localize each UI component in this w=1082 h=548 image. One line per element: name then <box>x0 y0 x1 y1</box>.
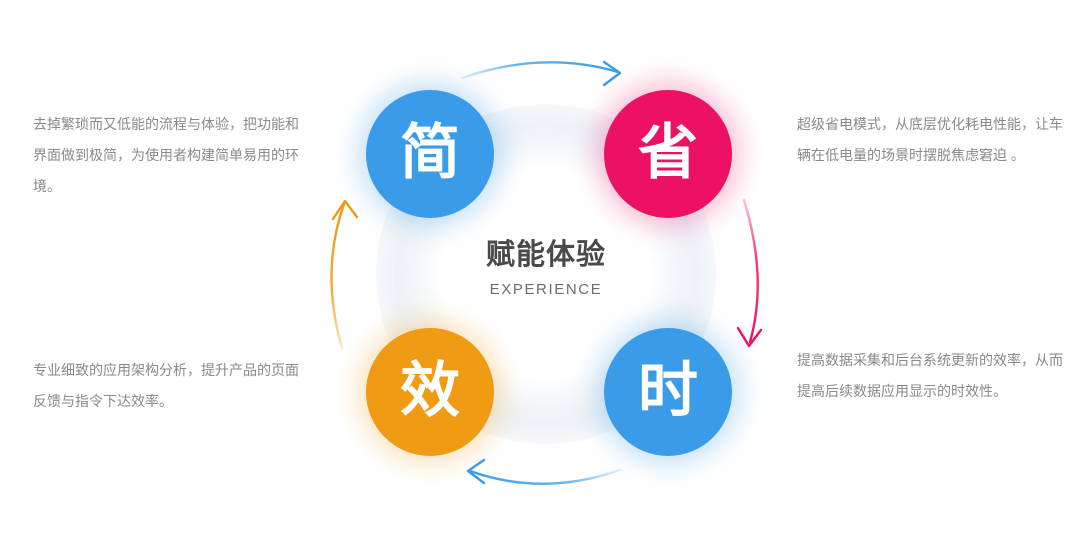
bottom-arrow-icon <box>468 460 620 484</box>
description-xiao: 专业细致的应用架构分析，提升产品的页面反馈与指令下达效率。 <box>33 355 301 417</box>
node-xiao[interactable]: 效 <box>366 328 494 456</box>
node-jian[interactable]: 简 <box>366 90 494 218</box>
description-sheng: 超级省电模式，从底层优化耗电性能，让车辆在低电量的场景时摆脱焦虑窘迫 。 <box>797 109 1065 171</box>
left-arrow-icon <box>331 201 357 348</box>
center-title: 赋能体验 <box>396 240 696 272</box>
node-xiao-glyph: 效 <box>400 361 460 421</box>
top-arrow-icon <box>462 62 620 85</box>
right-arrow-icon <box>738 200 761 346</box>
node-shi[interactable]: 时 <box>604 328 732 456</box>
description-jian: 去掉繁琐而又低能的流程与体验，把功能和界面做到极简，为使用者构建简单易用的环境。 <box>33 109 301 202</box>
description-shi: 提高数据采集和后台系统更新的效率，从而提高后续数据应用显示的时效性。 <box>797 345 1065 407</box>
infographic-canvas: 简 省 效 时 赋能体验 EXPERIENCE 去掉繁琐而又低能的流程与体验，把… <box>0 0 1082 548</box>
node-sheng[interactable]: 省 <box>604 90 732 218</box>
node-jian-glyph: 简 <box>400 123 460 183</box>
node-shi-glyph: 时 <box>638 361 698 421</box>
node-sheng-glyph: 省 <box>638 123 698 183</box>
center-label: 赋能体验 EXPERIENCE <box>396 240 696 298</box>
center-subtitle: EXPERIENCE <box>396 281 696 298</box>
